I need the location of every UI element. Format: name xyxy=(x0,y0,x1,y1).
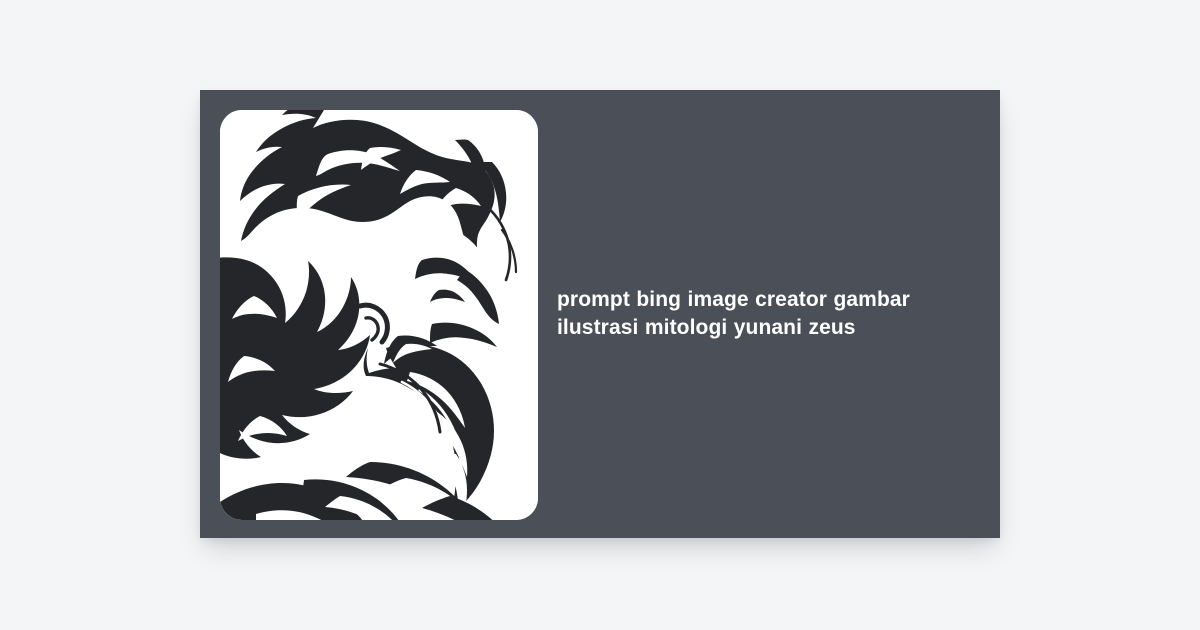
zeus-illustration-icon: Ilustrasi stensil hitam putih dewa Zeus … xyxy=(220,110,538,520)
card-caption: prompt bing image creator gambar ilustra… xyxy=(557,90,977,538)
link-preview-card[interactable]: Ilustrasi stensil hitam putih dewa Zeus … xyxy=(200,90,1000,538)
card-title: prompt bing image creator gambar ilustra… xyxy=(557,286,977,342)
thumbnail-panel[interactable]: Ilustrasi stensil hitam putih dewa Zeus … xyxy=(220,110,538,520)
